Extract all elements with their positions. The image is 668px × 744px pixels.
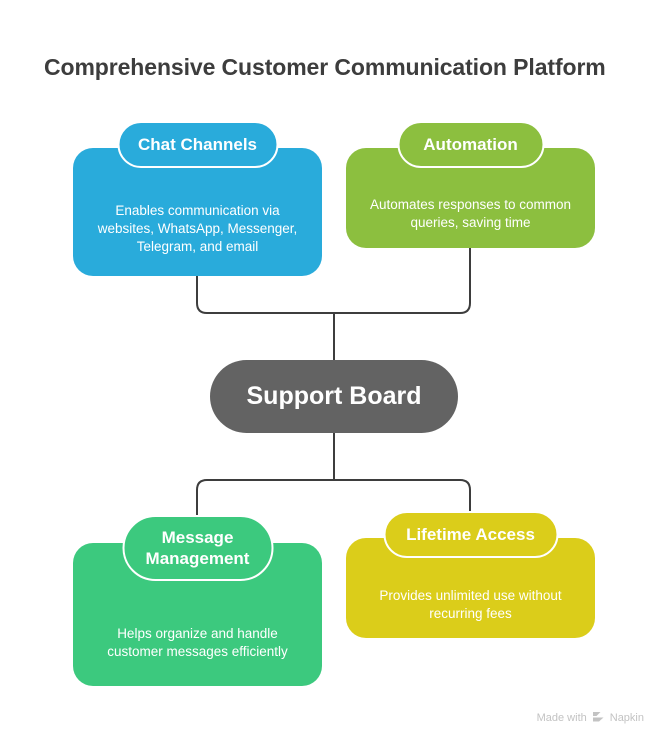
node-automation-description: Automates responses to common queries, s… bbox=[346, 164, 595, 232]
node-lifetime-access-description: Provides unlimited use without recurring… bbox=[346, 553, 595, 623]
node-support-board-body: Support Board bbox=[210, 360, 458, 433]
node-support-board[interactable]: Support Board bbox=[210, 360, 458, 433]
diagram-canvas: Comprehensive Customer Communication Pla… bbox=[0, 0, 668, 744]
node-automation-title[interactable]: Automation bbox=[397, 121, 544, 168]
napkin-chevrons-icon bbox=[592, 711, 605, 724]
node-lifetime-access[interactable]: Provides unlimited use without recurring… bbox=[346, 538, 595, 638]
node-chat-channels[interactable]: Enables communication via websites, What… bbox=[73, 148, 322, 276]
node-chat-channels-description: Enables communication via websites, What… bbox=[73, 168, 322, 256]
watermark-prefix: Made with bbox=[537, 712, 587, 724]
watermark-brand: Napkin bbox=[610, 712, 644, 724]
node-message-management-title[interactable]: Message Management bbox=[122, 515, 273, 581]
node-support-board-label: Support Board bbox=[247, 382, 422, 411]
napkin-watermark: Made with Napkin bbox=[537, 711, 644, 724]
node-automation[interactable]: Automates responses to common queries, s… bbox=[346, 148, 595, 248]
node-chat-channels-title[interactable]: Chat Channels bbox=[117, 121, 278, 168]
node-message-management[interactable]: Helps organize and handle customer messa… bbox=[73, 543, 322, 686]
page-title: Comprehensive Customer Communication Pla… bbox=[44, 52, 644, 82]
node-message-management-description: Helps organize and handle customer messa… bbox=[73, 569, 322, 661]
node-lifetime-access-title[interactable]: Lifetime Access bbox=[383, 511, 558, 558]
